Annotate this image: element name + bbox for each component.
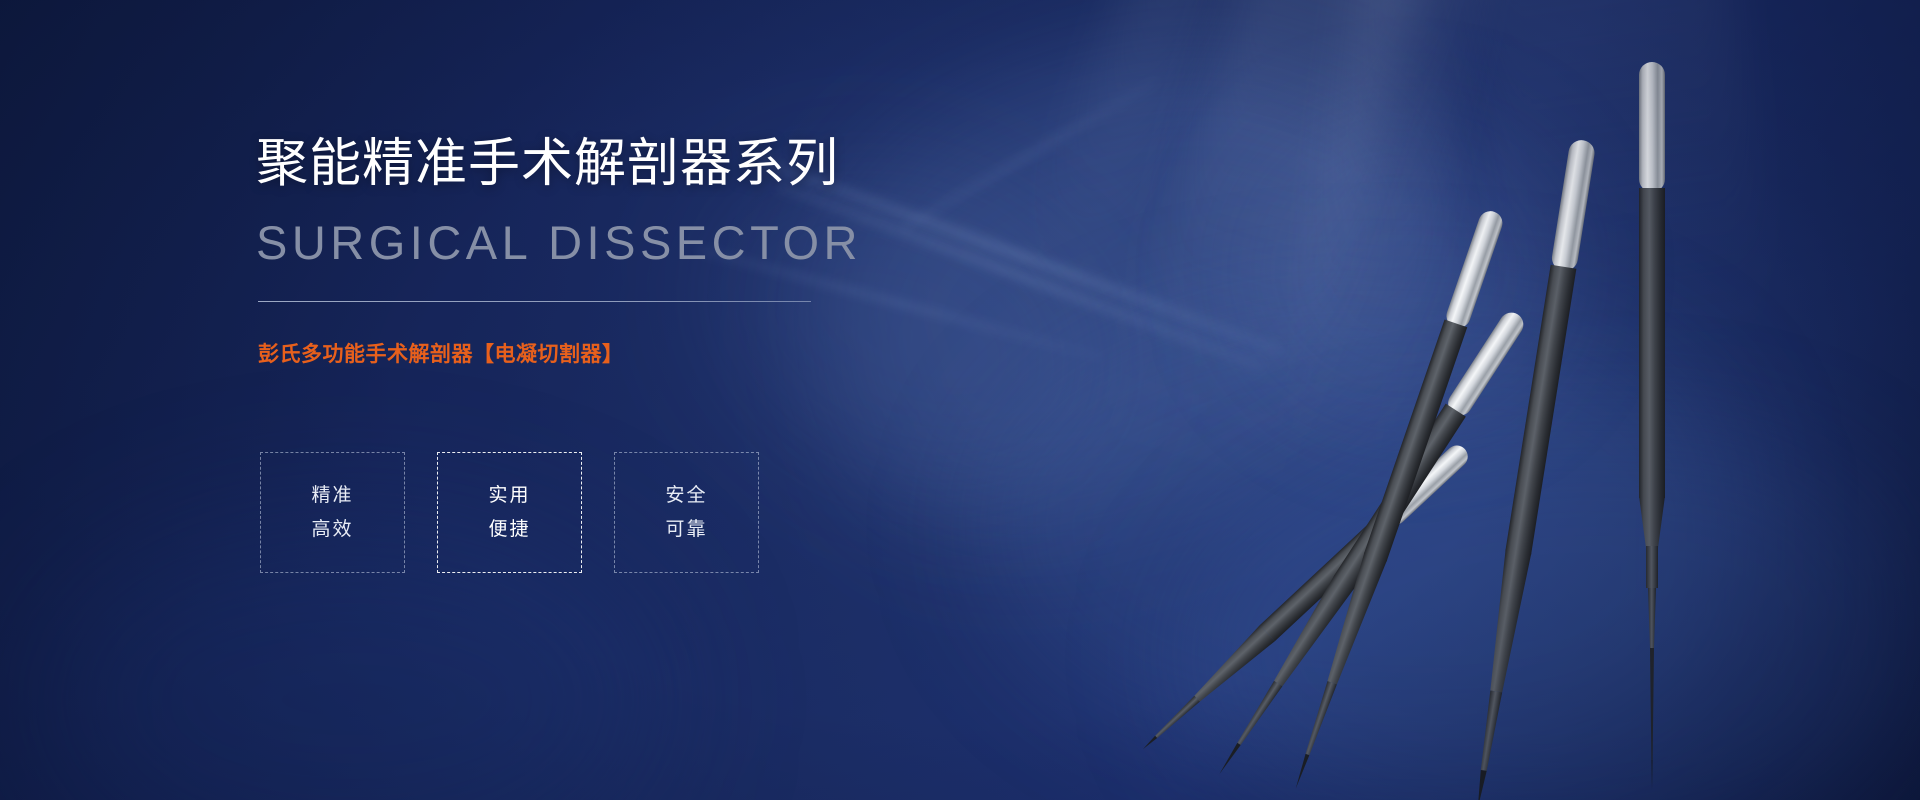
feature-line-2: 便捷 — [488, 513, 530, 547]
feature-line-1: 精准 — [311, 479, 353, 513]
feature-line-2: 可靠 — [665, 513, 707, 547]
hero-banner: 聚能精准手术解剖器系列 SURGICAL DISSECTOR 彭氏多功能手术解剖… — [0, 0, 1920, 800]
feature-box-1: 精准 高效 — [260, 452, 405, 573]
feature-box-2: 实用 便捷 — [437, 452, 582, 573]
feature-line-2: 高效 — [311, 513, 353, 547]
feature-box-group: 精准 高效 实用 便捷 安全 可靠 — [260, 452, 759, 573]
hero-content: 聚能精准手术解剖器系列 SURGICAL DISSECTOR 彭氏多功能手术解剖… — [256, 0, 1056, 800]
page-subtitle-english: SURGICAL DISSECTOR — [256, 214, 862, 272]
page-title: 聚能精准手术解剖器系列 — [256, 133, 839, 195]
feature-line-1: 安全 — [665, 479, 707, 513]
feature-line-1: 实用 — [488, 479, 530, 513]
feature-box-3: 安全 可靠 — [614, 452, 759, 573]
product-name-highlight: 彭氏多功能手术解剖器【电凝切割器】 — [258, 340, 624, 370]
divider — [258, 301, 811, 302]
